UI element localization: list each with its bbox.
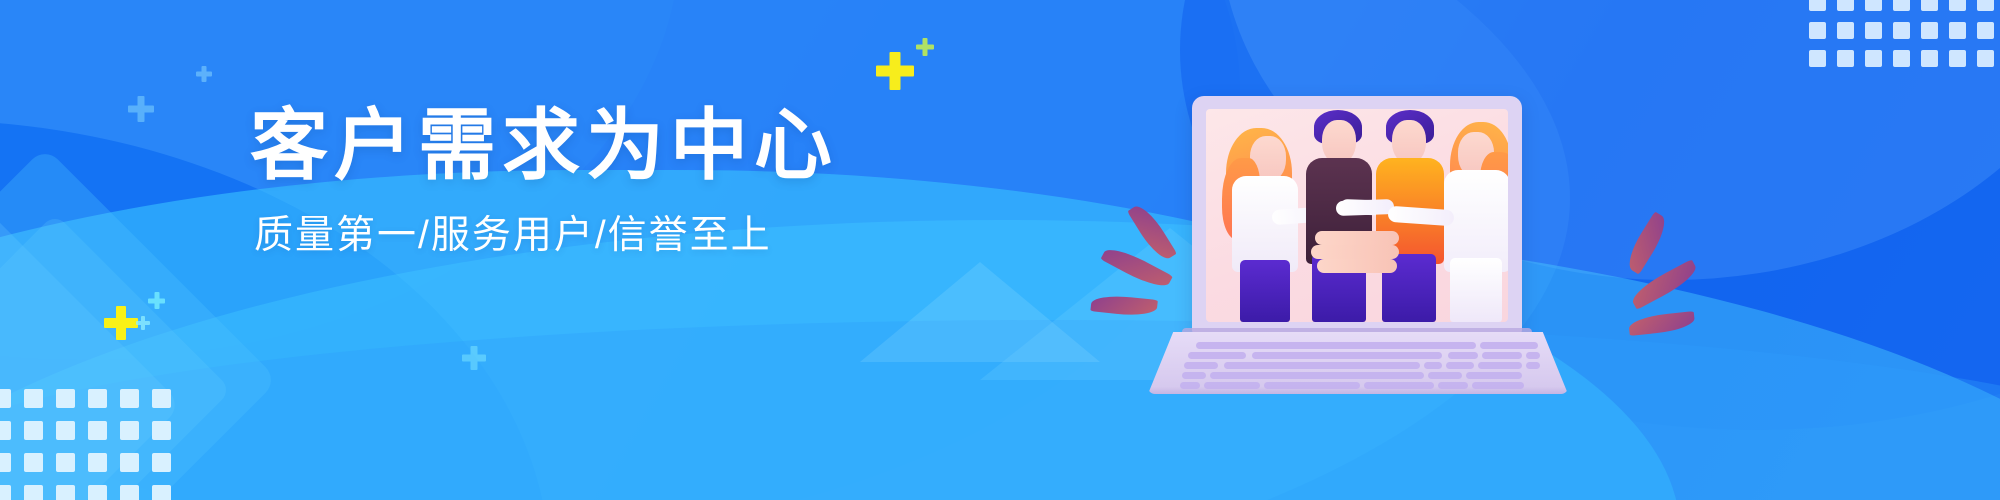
banner-copy-block: 客户需求为中心 质量第一/服务用户/信誉至上	[250, 104, 870, 259]
banner-headline: 客户需求为中心	[250, 104, 870, 187]
banner-subheadline: 质量第一/服务用户/信誉至上	[254, 213, 870, 260]
plus-cyan-center-icon	[462, 346, 486, 370]
plus-yellow-large-top-icon	[876, 52, 914, 90]
person-4-bottom	[1450, 258, 1502, 322]
plus-yellow-large-bottom-icon	[104, 306, 138, 340]
plus-cyan-small-b-icon	[136, 316, 150, 330]
plus-cyan-left-top-icon	[128, 96, 154, 122]
grid-bottom-left	[0, 389, 171, 500]
grid-top-right	[1809, 0, 1994, 67]
plus-lime-small-top-icon	[916, 38, 934, 56]
promo-banner: 客户需求为中心 质量第一/服务用户/信誉至上	[0, 0, 2000, 500]
team-handshake-scene	[1206, 109, 1508, 322]
background-chevron-shape-3	[0, 213, 232, 500]
laptop-screen	[1206, 109, 1508, 322]
laptop-keyboard	[1178, 340, 1538, 388]
leaf-fan-right	[1520, 236, 1640, 356]
background-chevron-shape-2	[0, 193, 182, 500]
laptop-lid	[1192, 96, 1522, 334]
background-wave-bottom-strip	[0, 320, 2000, 500]
person-3-arm	[1336, 199, 1394, 216]
background-mountain-shape-3	[860, 262, 1100, 362]
plus-cyan-small-a-icon	[148, 292, 165, 309]
person-4-top	[1444, 170, 1508, 272]
plus-cyan-left-small-icon	[196, 66, 212, 82]
background-wave-lower-outer	[0, 220, 2000, 500]
laptop-illustration	[1148, 96, 1568, 396]
person-4	[1434, 109, 1508, 322]
background-chevron-shape-1	[0, 147, 278, 500]
joined-hands	[1315, 231, 1399, 277]
person-1-bottom	[1240, 260, 1290, 322]
